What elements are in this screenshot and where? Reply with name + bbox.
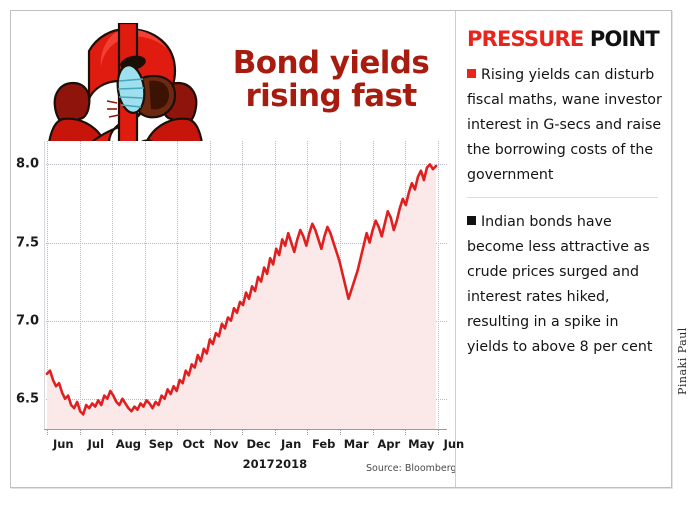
x-tick-11 (405, 430, 406, 435)
x-tick-label-Jun-0: Jun (53, 437, 74, 451)
x-tick-label-Mar-9: Mar (344, 437, 369, 451)
x-tick-label-Oct-4: Oct (182, 437, 204, 451)
x-tick-8 (307, 430, 308, 435)
bullet-point-1-text: Rising yields can disturb fiscal maths, … (467, 67, 662, 183)
bullet-point-2: Indian bonds have become less attractive… (467, 210, 662, 360)
bullet-point-1: Rising yields can disturb fiscal maths, … (467, 63, 662, 188)
x-tick-label-Feb-8: Feb (312, 437, 335, 451)
photo-credit: Pinaki Paul (676, 327, 689, 395)
series-area-fill (47, 164, 436, 430)
x-tick-0 (47, 430, 48, 435)
kicker-word-point: POINT (583, 27, 658, 51)
x-tick-label-Apr-10: Apr (377, 437, 400, 451)
y-tick-label-7.0: 7.0 (16, 313, 39, 328)
x-tick-7 (275, 430, 276, 435)
kicker-heading: PRESSURE POINT (467, 28, 662, 50)
x-tick-3 (145, 430, 146, 435)
x-tick-1 (80, 430, 81, 435)
text-panel: PRESSURE POINT Rising yields can disturb… (455, 11, 672, 487)
x-tick-label-Sep-3: Sep (149, 437, 173, 451)
x-tick-12 (438, 430, 439, 435)
black-square-bullet-icon (467, 216, 476, 225)
x-tick-label-Dec-6: Dec (246, 437, 270, 451)
x-tick-label-May-11: May (408, 437, 434, 451)
x-tick-5 (210, 430, 211, 435)
yield-line-chart: 6.57.07.58.0 JunJulAugSepOctNovDec2017Ja… (44, 141, 447, 430)
red-square-bullet-icon (467, 69, 476, 78)
page-title-line1: Bond yields (233, 45, 430, 81)
chart-panel: Bond yields rising fast 6.57.07.58.0 Jun… (11, 11, 454, 487)
x-tick-label-Nov-5: Nov (214, 437, 239, 451)
x-tick-label-Jan-7: Jan (281, 437, 301, 451)
x-tick-label-Aug-2: Aug (116, 437, 141, 451)
x-tick-4 (177, 430, 178, 435)
bullet-point-2-text: Indian bonds have become less attractive… (467, 214, 652, 355)
page-title-line2: rising fast (211, 80, 451, 113)
y-axis-line (44, 141, 45, 430)
x-tick-9 (340, 430, 341, 435)
yield-series-path (44, 141, 447, 430)
kicker-word-pressure: PRESSURE (467, 27, 583, 51)
paragraph-divider (467, 197, 658, 198)
x-tick-label-Jul-1: Jul (88, 437, 104, 451)
x-axis-year-2017: 2017 (243, 457, 275, 471)
infographic-root: Bond yields rising fast 6.57.07.58.0 Jun… (0, 0, 696, 522)
x-tick-10 (373, 430, 374, 435)
x-tick-2 (112, 430, 113, 435)
y-tick-label-7.5: 7.5 (16, 235, 39, 250)
x-axis-line (44, 429, 447, 430)
x-tick-6 (242, 430, 243, 435)
source-note: Source: Bloomberg (366, 463, 457, 474)
x-axis-year-2018: 2018 (275, 457, 307, 471)
y-tick-label-6.5: 6.5 (16, 391, 39, 406)
y-tick-label-8.0: 8.0 (16, 157, 39, 172)
page-title: Bond yields rising fast (211, 47, 451, 113)
